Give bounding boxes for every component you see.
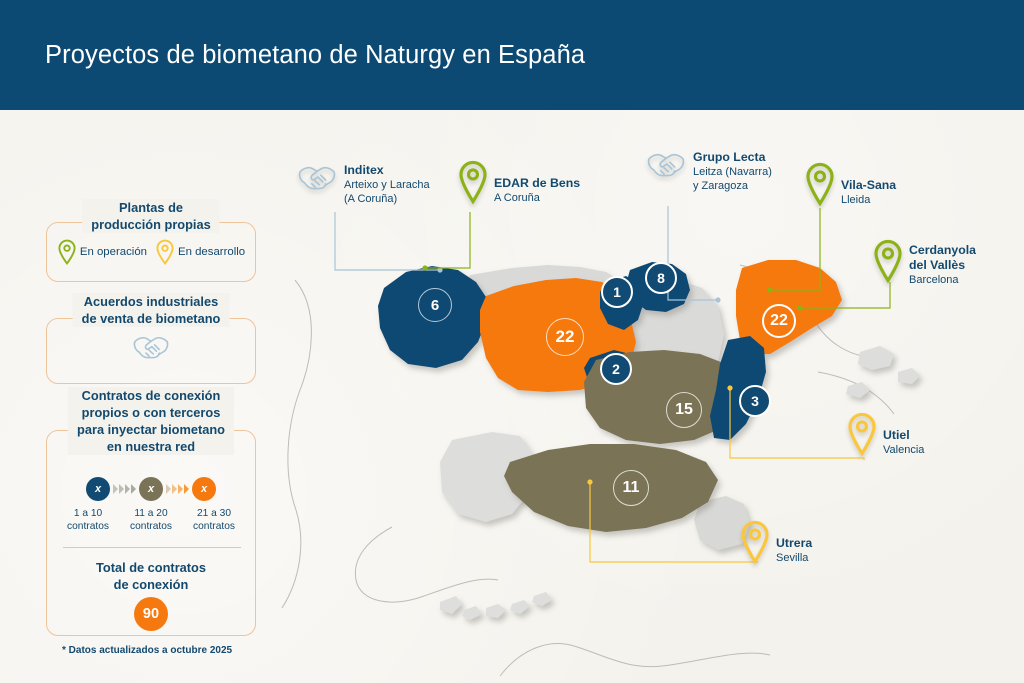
legend-contracts-title-line1: Contratos de conexión	[77, 387, 225, 404]
region-badge-castilla-y-leon: 22	[546, 318, 584, 356]
header-bar: Proyectos de biometano de Naturgy en Esp…	[0, 0, 1024, 110]
total-contracts-badge: 90	[134, 597, 168, 631]
chevron-right-icon	[131, 484, 136, 494]
region-value-cataluna: 22	[770, 312, 788, 330]
callout-name-edar-de-bens: EDAR de Bens	[494, 176, 580, 191]
callout-sub-grupo-lecta-2: y Zaragoza	[693, 179, 772, 193]
callout-name-cerdanyola-2: del Vallès	[909, 258, 976, 273]
callout-sub-utrera: Sevilla	[776, 551, 812, 565]
legend-contracts-title-line2: propios o con terceros	[77, 404, 225, 421]
legend-item-en-operacion[interactable]: En operación	[57, 239, 147, 265]
scale-dot-marker: x	[148, 483, 154, 495]
region-value-andalucia: 11	[623, 479, 640, 497]
callout-sub-cerdanyola: Barcelona	[909, 273, 976, 287]
region-value-castilla-y-leon: 22	[556, 327, 575, 347]
legend-contracts-title-line4: en nuestra red	[77, 438, 225, 455]
callout-sub-vila-sana: Lleida	[841, 193, 896, 207]
legend-panel-contracts: Contratos de conexión propios o con terc…	[46, 430, 256, 636]
chevron-right-icon	[166, 484, 171, 494]
legend-divider	[63, 547, 241, 548]
chevron-right-icon	[172, 484, 177, 494]
infographic-root: Proyectos de biometano de Naturgy en Esp…	[0, 0, 1024, 683]
scale-dot-1-10[interactable]: x	[86, 477, 110, 501]
callout-edar-de-bens[interactable]: EDAR de Bens A Coruña	[458, 160, 580, 206]
footnote: * Datos actualizados a octubre 2025	[62, 645, 232, 656]
region-value-galicia: 6	[431, 297, 439, 314]
legend-label-en-operacion: En operación	[80, 246, 147, 258]
contracts-scale-labels: 1 a 10 contratos 11 a 20 contratos 21 a …	[47, 507, 255, 533]
total-title-line2: de conexión	[47, 576, 255, 593]
page-title: Proyectos de biometano de Naturgy en Esp…	[45, 41, 585, 70]
legend-contracts-title: Contratos de conexión propios o con terc…	[68, 387, 234, 455]
callout-utiel[interactable]: Utiel Valencia	[847, 412, 924, 458]
legend-panel-plants: Plantas de producción propias En operaci…	[46, 222, 256, 282]
map-pin-icon	[57, 239, 77, 265]
region-badge-cataluna: 22	[762, 304, 796, 338]
region-badge-pais-vasco: 8	[645, 262, 677, 294]
region-value-pais-vasco: 8	[657, 270, 665, 286]
scale-label-1-10: 1 a 10 contratos	[57, 507, 119, 533]
scale-dot-marker: x	[201, 483, 207, 495]
region-value-castilla-la-mancha: 15	[675, 401, 693, 419]
legend-agreements-title: Acuerdos industriales de venta de biomet…	[73, 293, 230, 327]
callout-sub-inditex-2: (A Coruña)	[344, 192, 430, 206]
scale-label-unit: contratos	[57, 520, 119, 533]
chevron-right-icon	[184, 484, 189, 494]
region-badge-navarra: 1	[601, 276, 633, 308]
legend-agreements-title-line2: de venta de biometano	[82, 310, 221, 327]
scale-label-unit: contratos	[120, 520, 182, 533]
region-andalucia	[504, 444, 718, 532]
legend-contracts-title-line3: para inyectar biometano	[77, 421, 225, 438]
callout-sub-inditex-1: Arteixo y Laracha	[344, 178, 430, 192]
total-contracts-value: 90	[143, 606, 159, 622]
map-pin-icon	[155, 239, 175, 265]
handshake-icon	[296, 163, 338, 195]
contracts-scale: x x x	[47, 477, 255, 501]
total-title-line1: Total de contratos	[47, 559, 255, 576]
region-badge-comunidad-valenciana: 3	[739, 385, 771, 417]
map-pin-icon	[458, 160, 488, 206]
callout-vila-sana[interactable]: Vila-Sana Lleida	[805, 162, 896, 208]
scale-dot-11-20[interactable]: x	[139, 477, 163, 501]
scale-label-range: 11 a 20	[120, 507, 182, 520]
map-pin-icon	[805, 162, 835, 208]
callout-inditex[interactable]: Inditex Arteixo y Laracha (A Coruña)	[296, 163, 430, 206]
callout-name-vila-sana: Vila-Sana	[841, 178, 896, 193]
total-contracts-title: Total de contratos de conexión	[47, 559, 255, 593]
legend-label-en-desarrollo: En desarrollo	[178, 246, 245, 258]
scale-label-range: 21 a 30	[183, 507, 245, 520]
region-badge-castilla-la-mancha: 15	[666, 392, 702, 428]
chevron-right-icon	[178, 484, 183, 494]
callout-name-utrera: Utrera	[776, 536, 812, 551]
scale-label-11-20: 11 a 20 contratos	[120, 507, 182, 533]
map-pin-icon	[740, 520, 770, 566]
region-value-la-rioja: 2	[612, 361, 620, 377]
chevron-right-icon	[113, 484, 118, 494]
scale-label-21-30: 21 a 30 contratos	[183, 507, 245, 533]
region-value-navarra: 1	[613, 284, 621, 300]
callout-cerdanyola-del-valles[interactable]: Cerdanyola del Vallès Barcelona	[873, 237, 976, 287]
chevron-right-icon	[119, 484, 124, 494]
handshake-icon	[645, 150, 687, 182]
callout-name-utiel: Utiel	[883, 428, 924, 443]
callout-utrera[interactable]: Utrera Sevilla	[740, 520, 812, 566]
handshake-icon	[131, 334, 171, 364]
callout-name-inditex: Inditex	[344, 163, 430, 178]
scale-dot-marker: x	[95, 483, 101, 495]
callout-grupo-lecta[interactable]: Grupo Lecta Leitza (Navarra) y Zaragoza	[645, 150, 772, 193]
region-badge-galicia: 6	[418, 288, 452, 322]
chevron-group-b	[163, 484, 192, 494]
callout-sub-grupo-lecta-1: Leitza (Navarra)	[693, 165, 772, 179]
callout-name-grupo-lecta: Grupo Lecta	[693, 150, 772, 165]
callout-sub-utiel: Valencia	[883, 443, 924, 457]
region-badge-andalucia: 11	[613, 470, 649, 506]
chevron-right-icon	[125, 484, 130, 494]
map-pin-icon	[873, 239, 903, 285]
scale-dot-21-30[interactable]: x	[192, 477, 216, 501]
chevron-group-a	[110, 484, 139, 494]
scale-label-unit: contratos	[183, 520, 245, 533]
region-value-comunidad-valenciana: 3	[751, 393, 759, 409]
map-pin-icon	[847, 412, 877, 458]
callout-sub-edar-de-bens: A Coruña	[494, 191, 580, 205]
legend-panel-agreements: Acuerdos industriales de venta de biomet…	[46, 318, 256, 384]
legend-item-en-desarrollo[interactable]: En desarrollo	[155, 239, 245, 265]
region-badge-la-rioja: 2	[600, 353, 632, 385]
legend-agreements-title-line1: Acuerdos industriales	[82, 293, 221, 310]
callout-name-cerdanyola-1: Cerdanyola	[909, 243, 976, 258]
legend-plants-title-line1: Plantas de	[91, 199, 210, 216]
scale-label-range: 1 a 10	[57, 507, 119, 520]
